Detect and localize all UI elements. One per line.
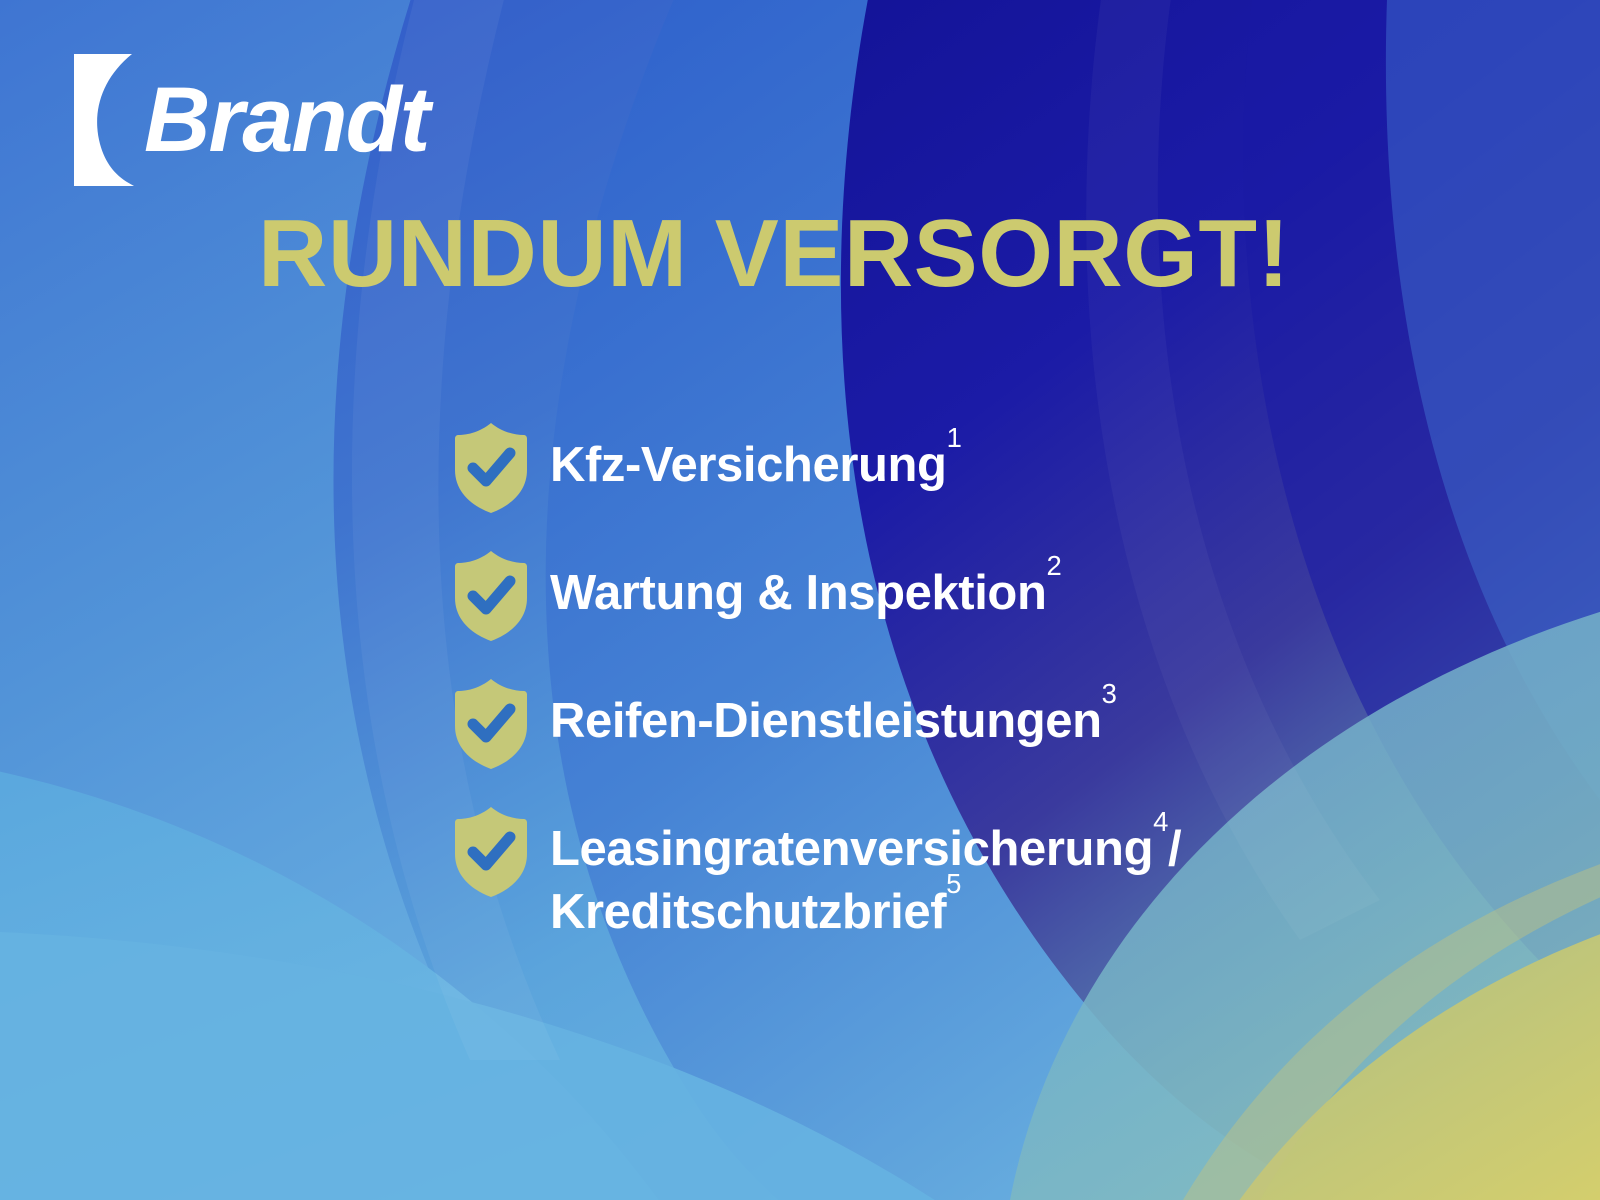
shield-check-icon <box>452 548 530 644</box>
separator-slash: / <box>1168 822 1181 876</box>
list-item-label: Kfz-Versicherung1 <box>550 418 961 497</box>
feature-label-text: Reifen-Dienstleistungen <box>550 694 1102 748</box>
list-item-label: Wartung & Inspektion2 <box>550 546 1061 625</box>
feature-label-text-line2: Kreditschutzbrief <box>550 885 946 939</box>
bracket-crescent-icon <box>70 52 150 188</box>
shield-check-icon <box>452 420 530 516</box>
list-item: Wartung & Inspektion2 <box>452 546 1512 644</box>
list-item-label: Leasingratenversicherung4/ Kreditschutzb… <box>550 802 1181 943</box>
footnote-marker: 3 <box>1102 678 1117 709</box>
feature-list: Kfz-Versicherung1 Wartung & Inspektion2 … <box>452 418 1512 973</box>
promo-banner: Brandt RUNDUM VERSORGT! Kfz-Versicherung… <box>0 0 1600 1200</box>
brand-logo: Brandt <box>70 52 428 188</box>
list-item: Kfz-Versicherung1 <box>452 418 1512 516</box>
footnote-marker: 5 <box>946 868 961 899</box>
shield-check-icon <box>452 804 530 900</box>
list-item: Reifen-Dienstleistungen3 <box>452 674 1512 772</box>
footnote-marker: 2 <box>1047 550 1062 581</box>
brand-wordmark: Brandt <box>144 74 428 166</box>
footnote-marker: 1 <box>947 422 962 453</box>
feature-label-text: Kfz-Versicherung <box>550 438 947 492</box>
list-item: Leasingratenversicherung4/ Kreditschutzb… <box>452 802 1512 943</box>
footnote-marker: 4 <box>1153 806 1168 837</box>
shield-check-icon <box>452 676 530 772</box>
feature-label-text: Leasingratenversicherung <box>550 822 1153 876</box>
list-item-label: Reifen-Dienstleistungen3 <box>550 674 1117 753</box>
page-title: RUNDUM VERSORGT! <box>258 206 1290 302</box>
feature-label-text: Wartung & Inspektion <box>550 566 1047 620</box>
